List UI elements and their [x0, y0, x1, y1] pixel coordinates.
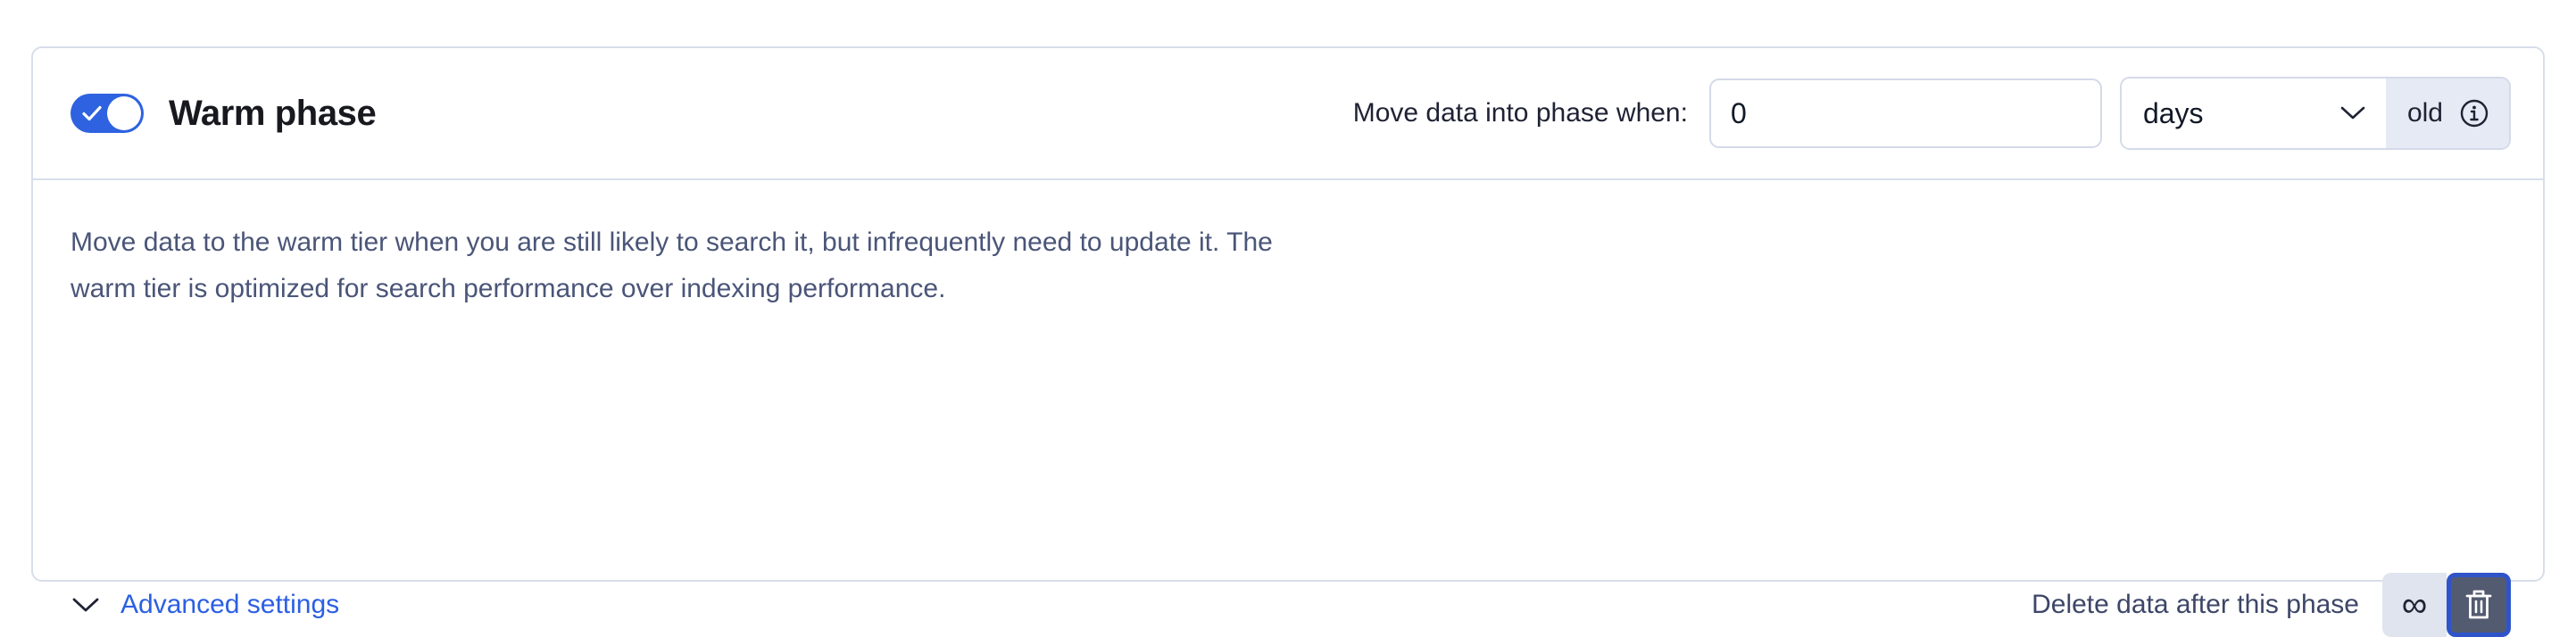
advanced-settings-toggle[interactable]: Advanced settings — [71, 590, 339, 620]
unit-suffix-label: old — [2407, 98, 2443, 128]
unit-select[interactable]: days — [2122, 79, 2386, 148]
advanced-settings-label: Advanced settings — [120, 590, 339, 620]
screen-root: Warm phase Move data into phase when: da… — [0, 0, 2576, 530]
phase-footer: Advanced settings Delete data after this… — [71, 573, 2511, 637]
toggle-knob — [107, 96, 141, 130]
keep-forever-button[interactable]: ∞ — [2382, 573, 2447, 637]
trash-icon — [2464, 588, 2494, 622]
check-icon — [82, 104, 102, 122]
delete-data-button[interactable] — [2447, 573, 2511, 637]
phase-body: Move data to the warm tier when you are … — [33, 180, 2543, 580]
chevron-down-icon — [71, 596, 101, 614]
delete-data-button-group: ∞ — [2382, 573, 2511, 637]
page-title: Warm phase — [169, 94, 376, 134]
phase-title-group: Warm phase — [71, 94, 376, 134]
warm-phase-toggle[interactable] — [71, 94, 144, 133]
chevron-down-icon — [2339, 105, 2366, 121]
min-age-input[interactable] — [1709, 79, 2102, 148]
infinity-icon: ∞ — [2402, 587, 2428, 623]
unit-select-value: days — [2143, 97, 2204, 130]
delete-data-group: Delete data after this phase ∞ — [2032, 573, 2511, 637]
phase-description: Move data to the warm tier when you are … — [71, 219, 1320, 312]
unit-input-group: days old — [2120, 77, 2511, 150]
delete-data-label: Delete data after this phase — [2032, 590, 2359, 620]
move-data-label: Move data into phase when: — [1353, 98, 1688, 128]
phase-timing-controls: Move data into phase when: days old — [1353, 77, 2511, 150]
info-circle-icon[interactable] — [2459, 98, 2489, 128]
unit-suffix: old — [2386, 79, 2509, 148]
phase-header: Warm phase Move data into phase when: da… — [33, 48, 2543, 180]
warm-phase-panel: Warm phase Move data into phase when: da… — [31, 46, 2545, 582]
